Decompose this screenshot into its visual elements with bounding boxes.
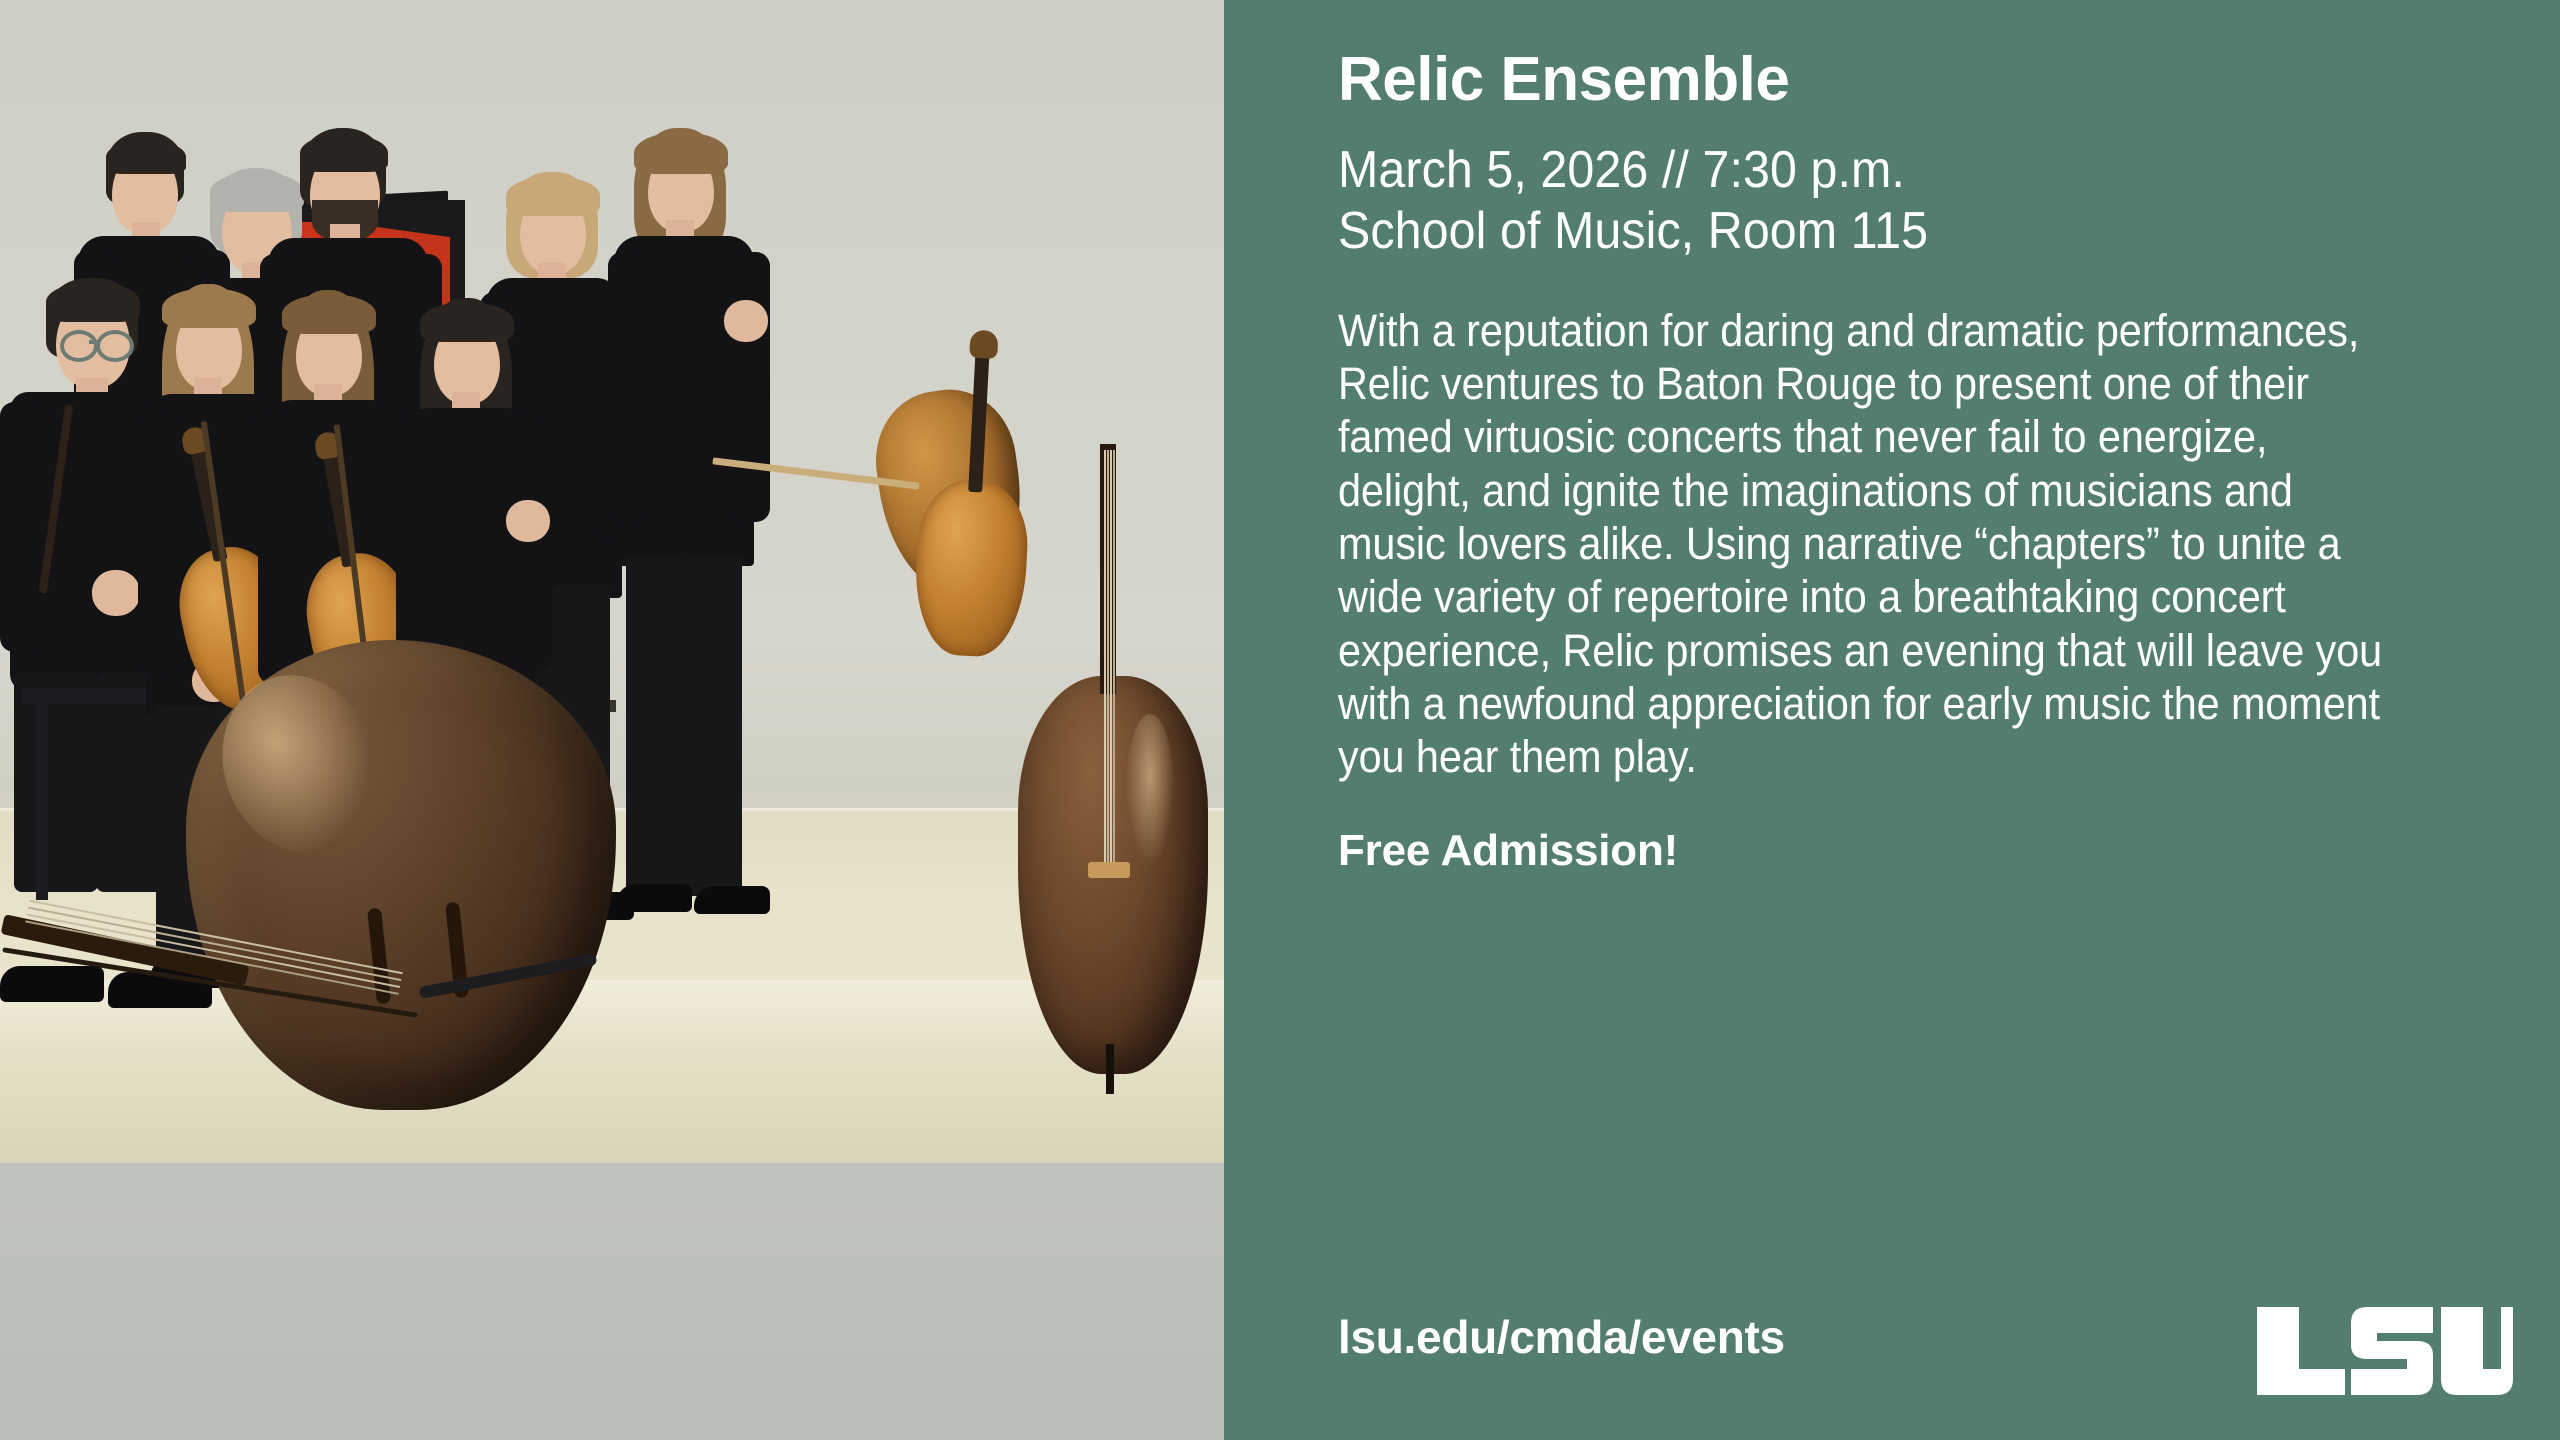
photo-panel — [0, 0, 1224, 1440]
event-poster: Relic Ensemble March 5, 2026 // 7:30 p.m… — [0, 0, 2560, 1440]
event-location: School of Music, Room 115 — [1338, 201, 2417, 262]
info-content: Relic Ensemble March 5, 2026 // 7:30 p.m… — [1338, 0, 2498, 876]
ensemble-photo — [0, 0, 1224, 1163]
lsu-logo — [2255, 1305, 2515, 1397]
cello — [1018, 444, 1208, 1074]
events-url[interactable]: lsu.edu/cmda/events — [1338, 1310, 1785, 1364]
double-bass — [186, 640, 616, 1110]
page-title: Relic Ensemble — [1338, 46, 2498, 114]
info-panel: Relic Ensemble March 5, 2026 // 7:30 p.m… — [1224, 0, 2560, 1440]
event-description: With a reputation for daring and dramati… — [1338, 304, 2405, 784]
admission-note: Free Admission! — [1338, 826, 2498, 876]
event-datetime-location: March 5, 2026 // 7:30 p.m. School of Mus… — [1338, 140, 2417, 262]
event-datetime: March 5, 2026 // 7:30 p.m. — [1338, 140, 2417, 201]
